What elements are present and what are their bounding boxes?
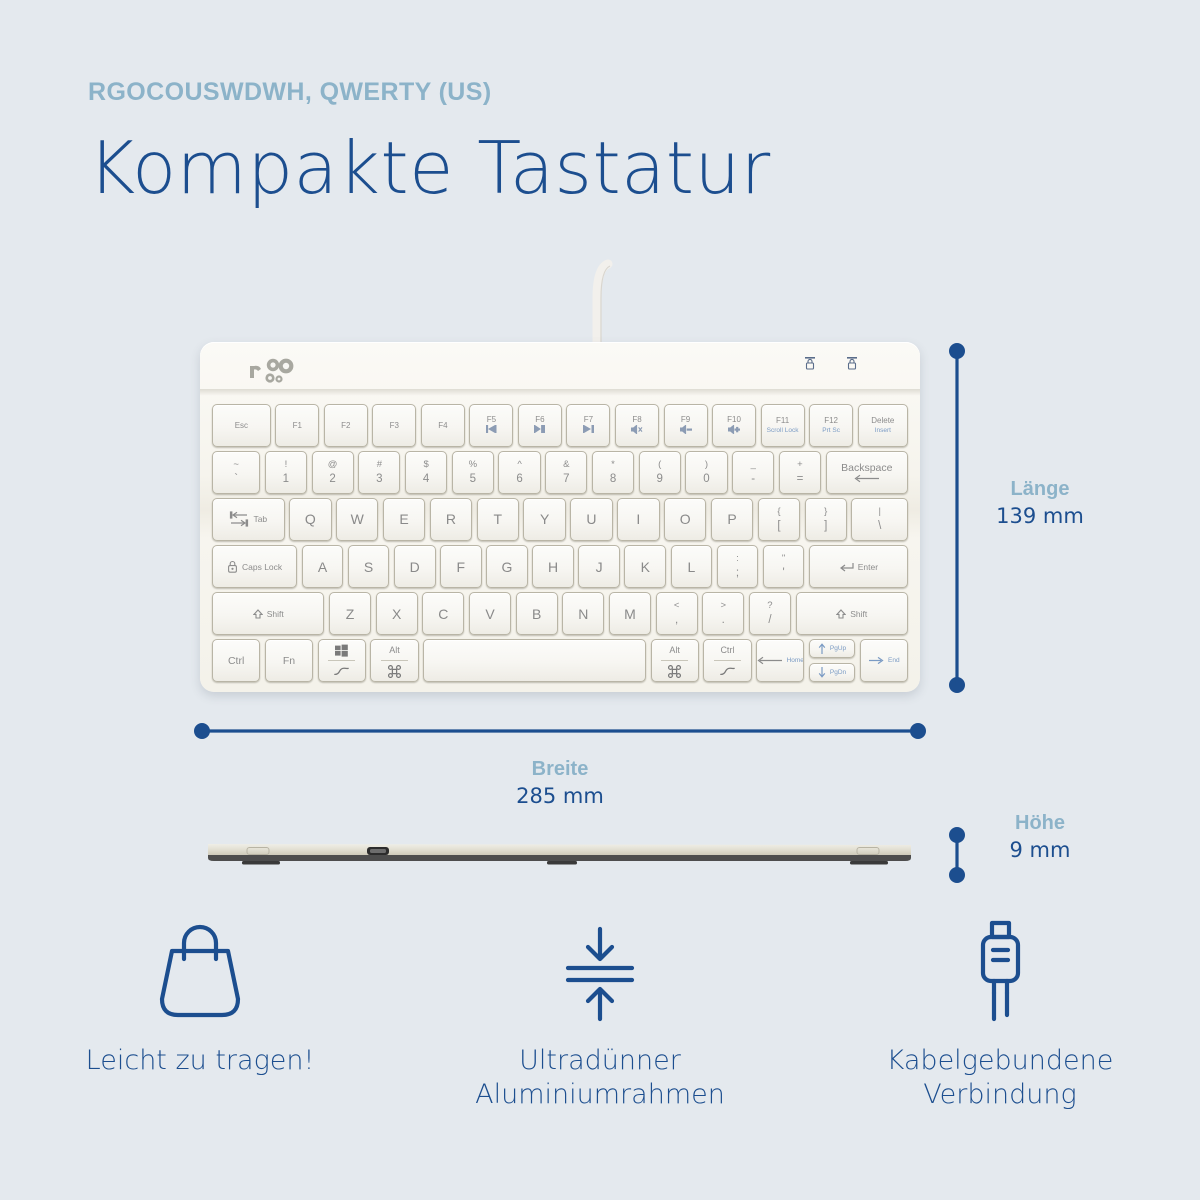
- key-enter[interactable]: Enter: [809, 545, 908, 588]
- key-s[interactable]: S: [348, 545, 390, 588]
- keyboard-row-home-row: Caps LockASDFGHJKL:;"'Enter: [212, 545, 908, 588]
- key-f11[interactable]: F11Scroll Lock: [761, 404, 805, 447]
- key-x[interactable]: X: [376, 592, 418, 635]
- key-v[interactable]: V: [469, 592, 511, 635]
- key-ctrl[interactable]: Ctrl: [212, 639, 260, 682]
- key-9[interactable]: (9: [639, 451, 681, 494]
- key-space[interactable]: [423, 639, 646, 682]
- key-n[interactable]: N: [562, 592, 604, 635]
- key-=[interactable]: +=: [779, 451, 821, 494]
- key-j[interactable]: J: [578, 545, 620, 588]
- key--[interactable]: _-: [732, 451, 774, 494]
- feature-list: Leicht zu tragen! UltradünnerAluminiumra…: [0, 918, 1200, 1112]
- key-d[interactable]: D: [394, 545, 436, 588]
- feature-label: KabelgebundeneVerbindung: [887, 1044, 1114, 1112]
- key-a[interactable]: A: [302, 545, 344, 588]
- key-3[interactable]: #3: [358, 451, 400, 494]
- key-k[interactable]: K: [624, 545, 666, 588]
- cable-plug-icon: [950, 918, 1050, 1028]
- dimension-label-laenge: Länge 139 mm: [960, 478, 1120, 528]
- page-title: Kompakte Tastatur: [88, 131, 771, 207]
- status-indicators: [804, 356, 858, 372]
- thin-frame-icon: [550, 918, 650, 1028]
- key-f4[interactable]: F4: [421, 404, 465, 447]
- keyboard-side-view: [202, 840, 917, 866]
- key-l[interactable]: L: [671, 545, 713, 588]
- header-block: RGOCOUSWDWH, QWERTY (US) Kompakte Tastat…: [88, 78, 771, 207]
- key-caps-lock[interactable]: Caps Lock: [212, 545, 297, 588]
- key-fn[interactable]: Fn: [265, 639, 313, 682]
- key-i[interactable]: I: [617, 498, 659, 541]
- key-f3[interactable]: F3: [372, 404, 416, 447]
- feature-item-carry: Leicht zu tragen!: [0, 918, 400, 1112]
- key-.[interactable]: >.: [702, 592, 744, 635]
- key-b[interactable]: B: [516, 592, 558, 635]
- key-delete[interactable]: DeleteInsert: [858, 404, 908, 447]
- key-windows-option[interactable]: [318, 639, 366, 682]
- key-;[interactable]: :;: [717, 545, 759, 588]
- keyboard-row-number-row: ~`!1@2#3$4%5^6&7*8(9)0_-+=Backspace: [212, 451, 908, 494]
- key-f8[interactable]: F8: [615, 404, 659, 447]
- key-f2[interactable]: F2: [324, 404, 368, 447]
- key-backspace[interactable]: Backspace: [826, 451, 908, 494]
- key-e[interactable]: E: [383, 498, 425, 541]
- bag-icon: [150, 918, 250, 1028]
- key-[[interactable]: {[: [758, 498, 800, 541]
- keyboard-top-view: EscF1F2F3F4F5F6F7F8F9F10F11Scroll LockF1…: [200, 342, 920, 692]
- key-o[interactable]: O: [664, 498, 706, 541]
- key-tab[interactable]: Tab: [212, 498, 285, 541]
- feature-label: UltradünnerAluminiumrahmen: [475, 1044, 725, 1112]
- dimension-label-breite: Breite 285 mm: [480, 758, 640, 808]
- key-home[interactable]: Home: [756, 639, 804, 682]
- key-][interactable]: }]: [805, 498, 847, 541]
- rgo-logo: [248, 356, 318, 386]
- key-w[interactable]: W: [336, 498, 378, 541]
- key-g[interactable]: G: [486, 545, 528, 588]
- feature-item-thin: UltradünnerAluminiumrahmen: [400, 918, 800, 1112]
- product-sku: RGOCOUSWDWH, QWERTY (US): [88, 78, 771, 107]
- key-shift[interactable]: Shift: [796, 592, 908, 635]
- key-0[interactable]: )0: [685, 451, 727, 494]
- key-f5[interactable]: F5: [469, 404, 513, 447]
- key-pgdn[interactable]: PgDn: [809, 663, 855, 682]
- key-q[interactable]: Q: [289, 498, 331, 541]
- feature-label: Leicht zu tragen!: [86, 1044, 315, 1078]
- key-8[interactable]: *8: [592, 451, 634, 494]
- feature-item-wired: KabelgebundeneVerbindung: [800, 918, 1200, 1112]
- key-h[interactable]: H: [532, 545, 574, 588]
- key-2[interactable]: @2: [312, 451, 354, 494]
- key-shift[interactable]: Shift: [212, 592, 324, 635]
- keyboard-cable: [565, 258, 635, 353]
- key-f6[interactable]: F6: [518, 404, 562, 447]
- key-m[interactable]: M: [609, 592, 651, 635]
- keyboard-row-qwerty-row: TabQWERTYUIOP{[}]|\: [212, 498, 908, 541]
- num-lock-led-icon: [846, 356, 858, 372]
- key-c[interactable]: C: [422, 592, 464, 635]
- key-u[interactable]: U: [570, 498, 612, 541]
- key-alt-command[interactable]: Alt: [370, 639, 418, 682]
- key-y[interactable]: Y: [523, 498, 565, 541]
- key-pgup[interactable]: PgUp: [809, 639, 855, 658]
- key-4[interactable]: $4: [405, 451, 447, 494]
- key-alt-command[interactable]: Alt: [651, 639, 699, 682]
- key-f[interactable]: F: [440, 545, 482, 588]
- keyboard-row-function-row: EscF1F2F3F4F5F6F7F8F9F10F11Scroll LockF1…: [212, 404, 908, 447]
- key-6[interactable]: ^6: [498, 451, 540, 494]
- key-5[interactable]: %5: [452, 451, 494, 494]
- key-matrix: EscF1F2F3F4F5F6F7F8F9F10F11Scroll LockF1…: [212, 404, 908, 682]
- key-`[interactable]: ~`: [212, 451, 260, 494]
- key-ctrl-option[interactable]: Ctrl: [703, 639, 751, 682]
- key-'[interactable]: "': [763, 545, 805, 588]
- key-stack-navigation: PgUpPgDn: [809, 639, 855, 682]
- key-1[interactable]: !1: [265, 451, 307, 494]
- key-f10[interactable]: F10: [712, 404, 756, 447]
- key-z[interactable]: Z: [329, 592, 371, 635]
- key-,[interactable]: <,: [656, 592, 698, 635]
- key-f9[interactable]: F9: [664, 404, 708, 447]
- key-t[interactable]: T: [477, 498, 519, 541]
- dimension-line-breite: [192, 720, 928, 742]
- key-f7[interactable]: F7: [566, 404, 610, 447]
- dimension-label-hoehe: Höhe 9 mm: [960, 812, 1120, 862]
- key-p[interactable]: P: [711, 498, 753, 541]
- caps-lock-led-icon: [804, 356, 816, 372]
- key-f1[interactable]: F1: [275, 404, 319, 447]
- key-7[interactable]: &7: [545, 451, 587, 494]
- key-end[interactable]: End: [860, 639, 908, 682]
- key-esc[interactable]: Esc: [212, 404, 271, 447]
- key-\[interactable]: |\: [851, 498, 907, 541]
- key-r[interactable]: R: [430, 498, 472, 541]
- keyboard-row-modifier-row: CtrlFnAltAltCtrlHomePgUpPgDnEnd: [212, 639, 908, 682]
- key-f12[interactable]: F12Prt Sc: [809, 404, 853, 447]
- keyboard-row-shift-row: ShiftZXCVBNM<,>.?/Shift: [212, 592, 908, 635]
- key-/[interactable]: ?/: [749, 592, 791, 635]
